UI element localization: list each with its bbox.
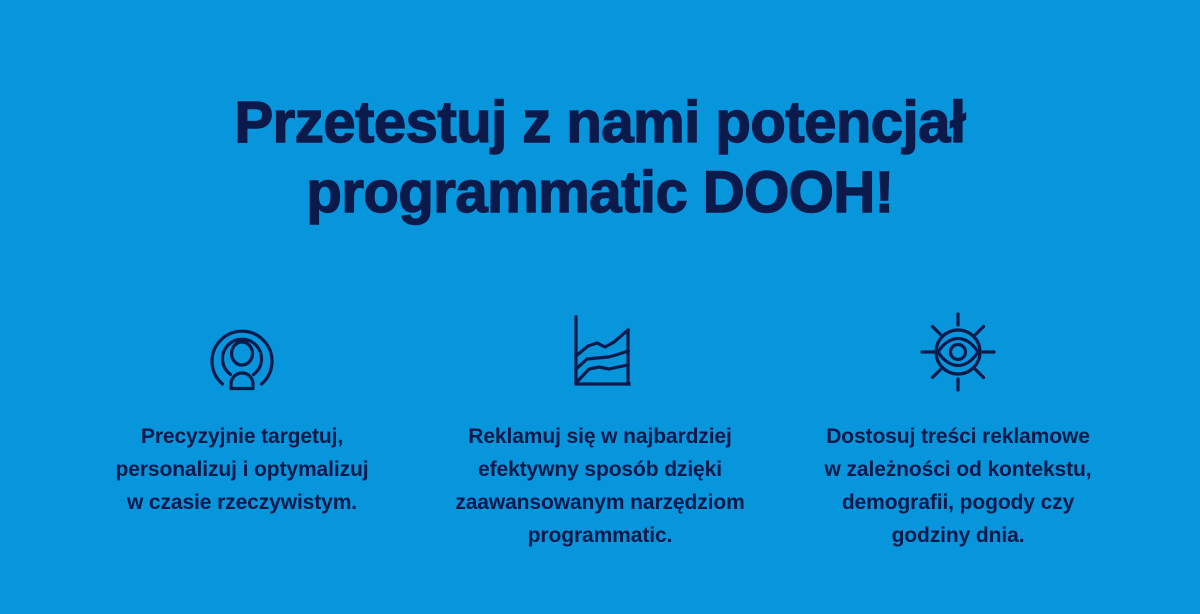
caption-line-3: w czasie rzeczywistym.	[77, 486, 407, 519]
eye-sun-rays-icon	[912, 306, 1004, 398]
headline-line-2: programmatic DOOH!	[0, 158, 1200, 228]
caption-line-4: godziny dnia.	[793, 519, 1123, 552]
promo-banner: Przetestuj z nami potencjał programmatic…	[0, 0, 1200, 614]
caption-line-4: programmatic.	[435, 519, 765, 552]
caption-line-3: zaawansowanym narzędziom	[435, 486, 765, 519]
caption-line-2: personalizuj i optymalizuj	[77, 453, 407, 486]
feature-columns: Precyzyjnie targetuj, personalizuj i opt…	[0, 306, 1200, 552]
line-chart-icon	[563, 306, 637, 398]
feature-column-contextual: Dostosuj treści reklamowe w zależności o…	[779, 306, 1137, 552]
caption-line-1: Reklamuj się w najbardziej	[435, 420, 765, 453]
caption-line-2: efektywny sposób dzięki	[435, 453, 765, 486]
feature-caption: Reklamuj się w najbardziej efektywny spo…	[435, 420, 765, 552]
caption-line-1: Precyzyjnie targetuj,	[77, 420, 407, 453]
headline-line-1: Przetestuj z nami potencjał	[0, 88, 1200, 158]
person-broadcast-target-icon	[203, 306, 281, 398]
feature-column-programmatic: Reklamuj się w najbardziej efektywny spo…	[421, 306, 779, 552]
feature-caption: Dostosuj treści reklamowe w zależności o…	[793, 420, 1123, 552]
caption-line-2: w zależności od kontekstu,	[793, 453, 1123, 486]
feature-caption: Precyzyjnie targetuj, personalizuj i opt…	[77, 420, 407, 519]
caption-line-1: Dostosuj treści reklamowe	[793, 420, 1123, 453]
caption-line-3: demografii, pogody czy	[793, 486, 1123, 519]
page-title: Przetestuj z nami potencjał programmatic…	[0, 88, 1200, 228]
feature-column-targeting: Precyzyjnie targetuj, personalizuj i opt…	[63, 306, 421, 519]
